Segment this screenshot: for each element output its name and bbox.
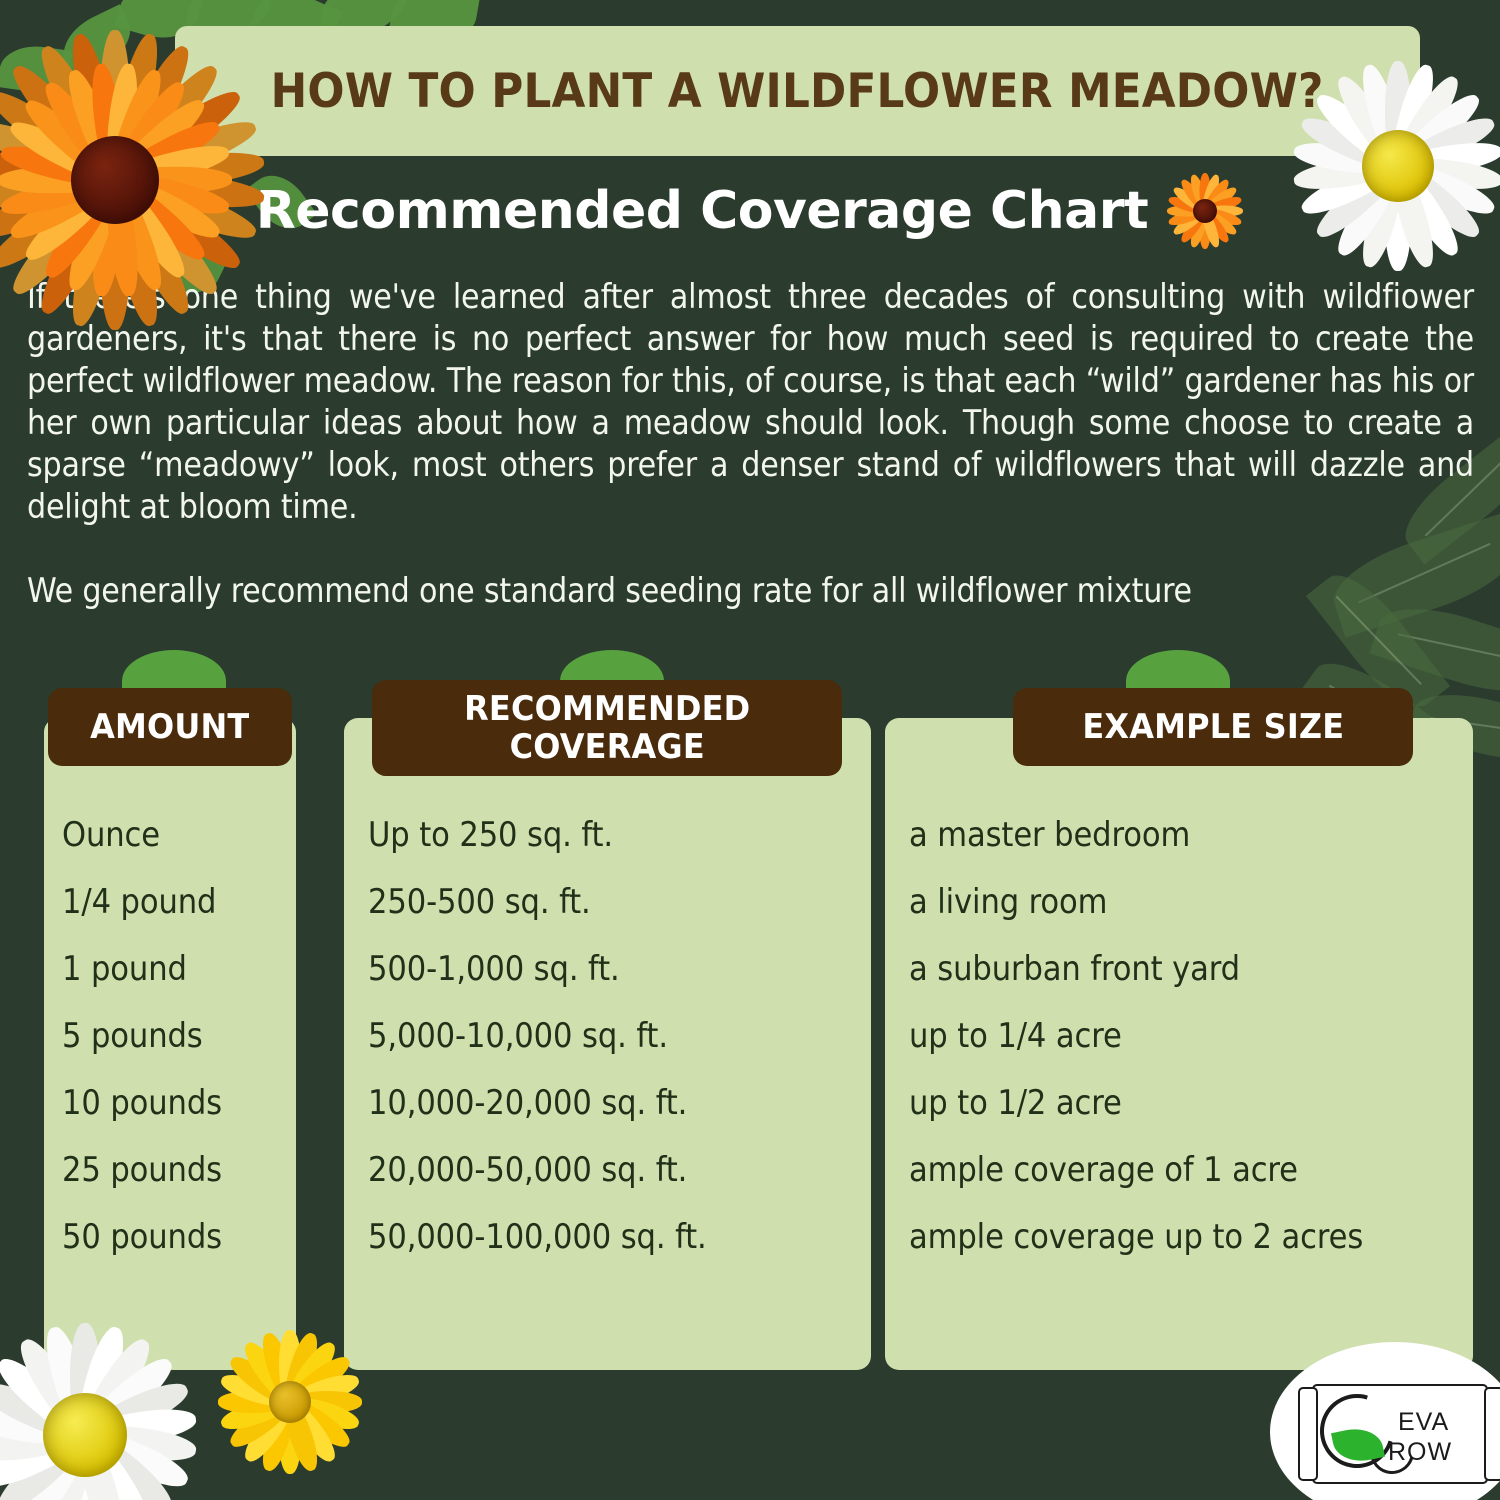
table-cell-example: ample coverage up to 2 acres: [885, 1204, 1473, 1271]
coverage-table: Ounce 1/4 pound 1 pound 5 pounds 10 poun…: [0, 650, 1500, 1340]
flower-petal: [1200, 209, 1222, 249]
flower-petal: [1201, 177, 1232, 214]
flower-petal: [218, 1391, 290, 1413]
table-cell-example: a master bedroom: [885, 802, 1473, 869]
subtitle: Recommended Coverage Chart: [256, 181, 1148, 241]
flower-petal: [1178, 177, 1209, 214]
flower-petal: [83, 1420, 198, 1466]
flower-petal: [0, 1421, 91, 1495]
flower-petal: [239, 1396, 299, 1467]
small-orange-calendula-flower-icon: [1166, 172, 1244, 250]
flower-petal: [1167, 194, 1207, 216]
flower-petal: [287, 1369, 362, 1412]
flower-petal: [284, 1393, 355, 1453]
flower-petal: [72, 1427, 158, 1500]
flower-petal: [1204, 206, 1244, 228]
flower-petal: [0, 1420, 87, 1466]
flower-petal: [280, 1399, 323, 1474]
flower-petal: [75, 1424, 179, 1500]
flower-petal: [62, 66, 127, 184]
table-header-amount-label: AMOUNT: [90, 708, 249, 746]
flower-petal: [290, 1391, 362, 1413]
table-cell-amount: 5 pounds: [44, 1003, 296, 1070]
table-column-amount: Ounce 1/4 pound 1 pound 5 pounds 10 poun…: [44, 718, 296, 1370]
flower-petal: [1171, 184, 1208, 215]
table-cell-amount: 10 pounds: [44, 1070, 296, 1137]
flower-petal: [287, 1392, 362, 1435]
flower-petal: [1188, 209, 1210, 249]
flower-petal: [257, 1399, 300, 1474]
table-header-example-label: EXAMPLE SIZE: [1082, 708, 1344, 746]
table-column-coverage: Up to 250 sq. ft. 250-500 sq. ft. 500-1,…: [344, 718, 871, 1370]
coverage-line-1: RECOMMENDED: [464, 689, 750, 729]
flower-petal: [218, 1369, 293, 1412]
flower-petal: [1201, 208, 1232, 245]
table-cell-coverage: Up to 250 sq. ft.: [344, 802, 871, 869]
intro-paragraph-1: If there's one thing we've learned after…: [27, 276, 1474, 528]
page-title: HOW TO PLANT A WILDFLOWER MEADOW?: [271, 64, 1324, 119]
flower-petal: [225, 1393, 296, 1453]
flower-petal: [218, 1392, 293, 1435]
flower-petal: [0, 1424, 95, 1500]
table-header-coverage-label: RECOMMENDEDCOVERAGE: [464, 690, 750, 766]
intro-paragraph-2: We generally recommend one standard seed…: [27, 570, 1474, 612]
flower-petal: [12, 1427, 98, 1500]
table-header-example: EXAMPLE SIZE: [1013, 688, 1413, 766]
flower-petal: [1171, 207, 1208, 238]
title-banner: HOW TO PLANT A WILDFLOWER MEADOW?: [175, 26, 1420, 156]
flower-petal: [38, 76, 125, 187]
table-cell-amount: Ounce: [44, 802, 296, 869]
flower-petal: [1200, 173, 1211, 211]
flower-petal: [0, 1375, 91, 1449]
table-cell-coverage: 250-500 sq. ft.: [344, 869, 871, 936]
intro-text: If there's one thing we've learned after…: [27, 276, 1474, 612]
flower-center: [269, 1381, 311, 1423]
logo-frame-right-icon: [1484, 1387, 1500, 1481]
flower-petal: [1200, 173, 1222, 213]
coverage-line-2: COVERAGE: [509, 727, 704, 767]
table-cell-coverage: 20,000-50,000 sq. ft.: [344, 1137, 871, 1204]
table-cell-amount: 1 pound: [44, 936, 296, 1003]
table-cell-coverage: 500-1,000 sq. ft.: [344, 936, 871, 1003]
flower-petal: [1178, 208, 1209, 245]
table-cell-example: up to 1/2 acre: [885, 1070, 1473, 1137]
flower-petal: [1202, 184, 1239, 215]
flower-petal: [83, 1404, 198, 1450]
logo-text-row: ROW: [1388, 1438, 1452, 1467]
subtitle-row: Recommended Coverage Chart: [0, 172, 1500, 250]
logo-text-eva: EVA: [1398, 1408, 1449, 1437]
table-header-amount: AMOUNT: [48, 688, 292, 766]
table-cell-coverage: 10,000-20,000 sq. ft.: [344, 1070, 871, 1137]
table-cell-example: a living room: [885, 869, 1473, 936]
table-cell-amount: 25 pounds: [44, 1137, 296, 1204]
flower-petal: [79, 1421, 193, 1495]
table-cell-coverage: 5,000-10,000 sq. ft.: [344, 1003, 871, 1070]
table-column-example: a master bedroom a living room a suburba…: [885, 718, 1473, 1370]
flower-petal: [71, 1431, 131, 1500]
table-cell-example: ample coverage of 1 acre: [885, 1137, 1473, 1204]
table-header-coverage: RECOMMENDEDCOVERAGE: [372, 680, 842, 776]
logo-frame-left-icon: [1298, 1387, 1318, 1481]
flower-petal: [88, 62, 127, 181]
flower-petal: [1200, 211, 1211, 249]
flower-center: [1193, 199, 1217, 223]
flower-petal: [79, 1375, 193, 1449]
table-cell-amount: 1/4 pound: [44, 869, 296, 936]
table-cell-amount: 50 pounds: [44, 1204, 296, 1271]
table-cell-coverage: 50,000-100,000 sq. ft.: [344, 1204, 871, 1271]
flower-petal: [39, 1431, 99, 1500]
flower-petal: [1188, 173, 1210, 213]
flower-petal: [103, 66, 168, 184]
flower-petal: [1167, 206, 1207, 228]
flower-petal: [1205, 206, 1243, 217]
flower-petal: [1204, 194, 1244, 216]
flower-center: [43, 1393, 127, 1477]
flower-petal: [1202, 207, 1239, 238]
flower-petal: [1167, 206, 1205, 217]
leaf-icon: [0, 41, 73, 96]
table-cell-example: a suburban front yard: [885, 936, 1473, 1003]
flower-petal: [279, 1402, 301, 1474]
flower-petal: [281, 1396, 341, 1467]
table-cell-example: up to 1/4 acre: [885, 1003, 1473, 1070]
flower-petal: [102, 62, 141, 181]
flower-petal: [0, 1404, 87, 1450]
flower-petal: [70, 1435, 100, 1500]
logo-mark: EVA ROW: [1312, 1384, 1488, 1484]
